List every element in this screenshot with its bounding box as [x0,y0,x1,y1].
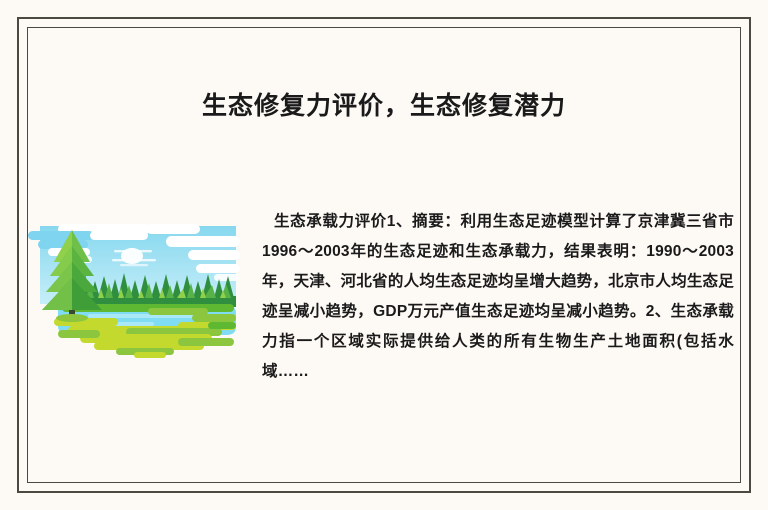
page-title: 生态修复力评价，生态修复潜力 [0,90,768,123]
nature-lake-forest-illustration [28,218,240,376]
illustration-svg [28,218,240,376]
article-body: 生态承载力评价1、摘要：利用生态足迹模型计算了京津冀三省市1996～2003年的… [262,207,734,387]
article-page: 生态修复力评价，生态修复潜力 [0,0,768,510]
